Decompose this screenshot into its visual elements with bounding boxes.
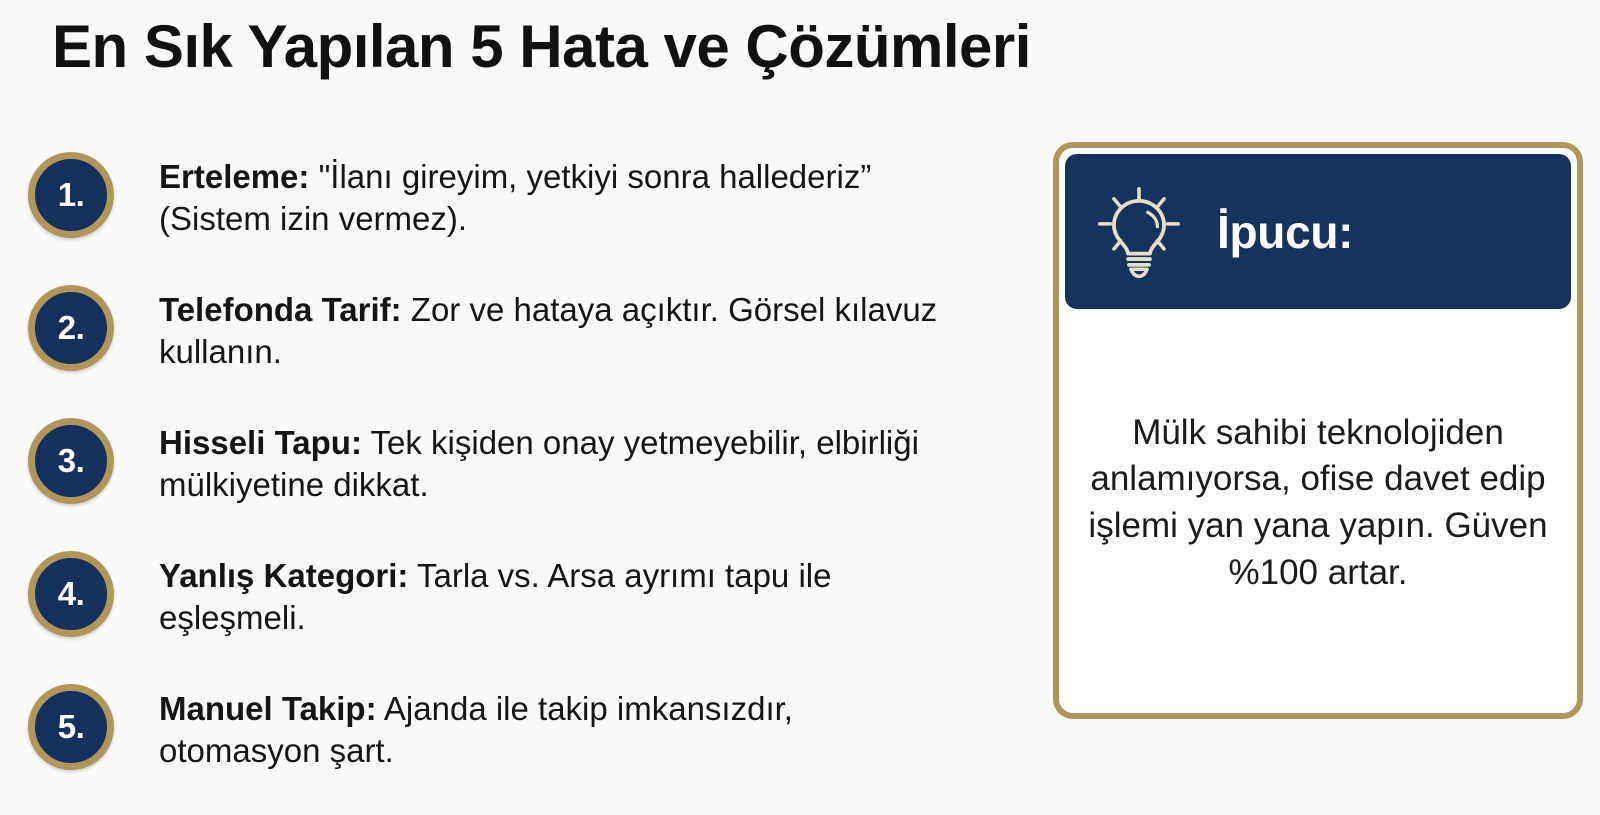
tip-card-body-text: Mülk sahibi teknolojiden anlamıyorsa, of… [1085, 410, 1551, 596]
mistake-lead: Erteleme: [159, 158, 309, 195]
badge-label: 3. [58, 444, 85, 477]
number-badge-2: 2. [28, 285, 114, 371]
mistakes-list: 1. Erteleme: "İlanı gireyim, yetkiyi son… [28, 150, 988, 815]
list-item: 3. Hisseli Tapu: Tek kişiden onay yetmey… [28, 416, 988, 549]
number-badge-1: 1. [28, 152, 114, 238]
list-item: 1. Erteleme: "İlanı gireyim, yetkiyi son… [28, 150, 988, 283]
mistake-lead: Telefonda Tarif: [159, 291, 402, 328]
badge-label: 2. [58, 311, 85, 344]
mistake-lead: Hisseli Tapu: [159, 424, 362, 461]
tip-card-header: İpucu: [1065, 154, 1571, 309]
number-badge-3: 3. [28, 418, 114, 504]
mistake-lead: Yanlış Kategori: [159, 557, 408, 594]
badge-label: 4. [58, 577, 85, 610]
lightbulb-icon [1095, 186, 1183, 278]
page-title: En Sık Yapılan 5 Hata ve Çözümleri [52, 12, 1031, 81]
mistake-lead: Manuel Takip: [159, 690, 377, 727]
mistake-text-4: Yanlış Kategori: Tarla vs. Arsa ayrımı t… [159, 549, 959, 639]
badge-label: 5. [58, 710, 85, 743]
list-item: 4. Yanlış Kategori: Tarla vs. Arsa ayrım… [28, 549, 988, 682]
tip-card: İpucu: Mülk sahibi teknolojiden anlamıyo… [1053, 142, 1583, 719]
number-badge-4: 4. [28, 551, 114, 637]
mistake-text-2: Telefonda Tarif: Zor ve hataya açıktır. … [159, 283, 959, 373]
tip-card-title: İpucu: [1217, 209, 1353, 255]
mistake-text-1: Erteleme: "İlanı gireyim, yetkiyi sonra … [159, 150, 959, 240]
list-item: 2. Telefonda Tarif: Zor ve hataya açıktı… [28, 283, 988, 416]
list-item: 5. Manuel Takip: Ajanda ile takip imkans… [28, 682, 988, 815]
mistake-text-3: Hisseli Tapu: Tek kişiden onay yetmeyebi… [159, 416, 959, 506]
mistake-text-5: Manuel Takip: Ajanda ile takip imkansızd… [159, 682, 959, 772]
badge-label: 1. [58, 178, 85, 211]
number-badge-5: 5. [28, 684, 114, 770]
tip-card-body: Mülk sahibi teknolojiden anlamıyorsa, of… [1059, 309, 1577, 713]
